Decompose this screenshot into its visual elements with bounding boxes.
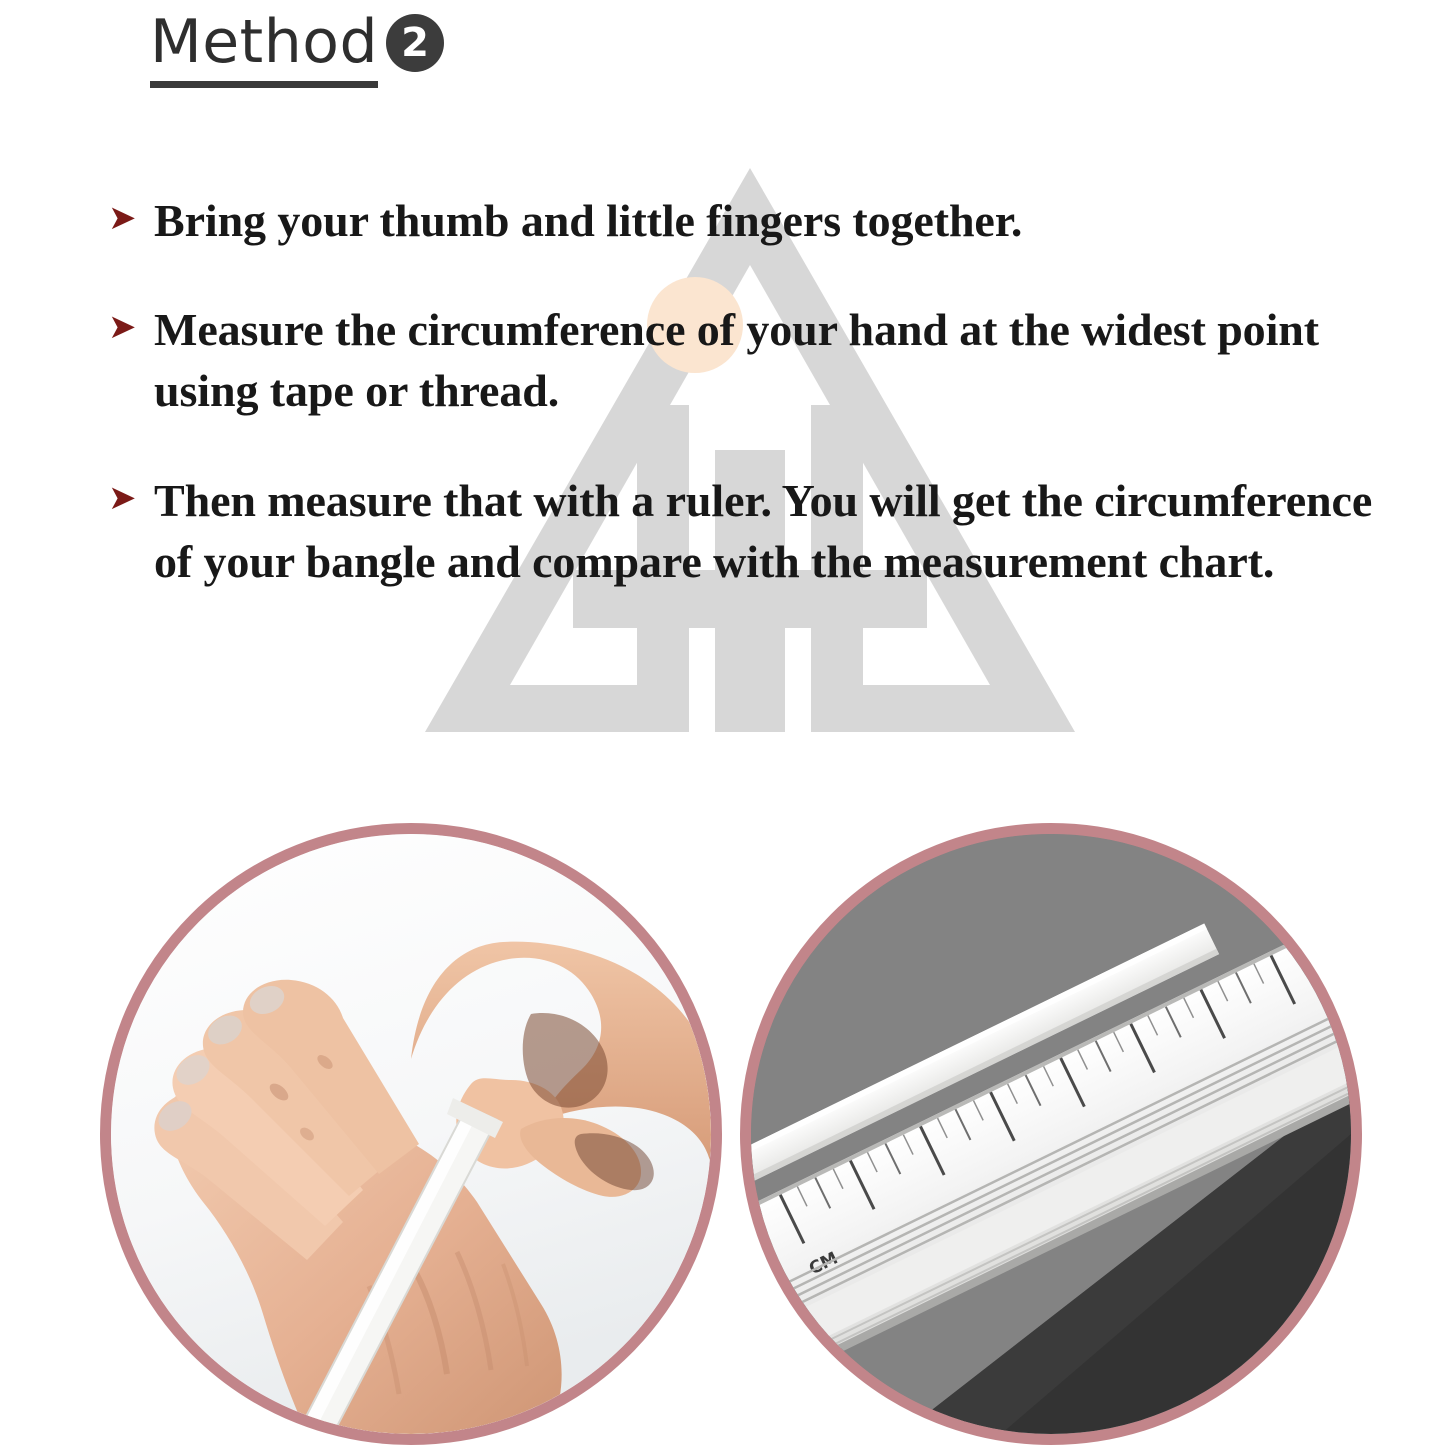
arrow-bullet-icon: ➤	[108, 470, 154, 516]
hand-measuring-illustration	[111, 834, 711, 1434]
page-title: Method	[150, 12, 378, 88]
instruction-list: ➤ Bring your thumb and little fingers to…	[108, 190, 1378, 640]
list-item: ➤ Then measure that with a ruler. You wi…	[108, 470, 1378, 592]
list-item: ➤ Bring your thumb and little fingers to…	[108, 190, 1378, 251]
header: Method 2	[150, 12, 444, 88]
ruler-illustration: CM	[751, 834, 1351, 1434]
photo-row: CM	[0, 805, 1445, 1445]
photo-ruler-measuring-strip: CM	[740, 823, 1362, 1445]
page-root: Method 2 ➤ Bring your thumb and little f…	[0, 0, 1445, 1445]
instruction-text: Bring your thumb and little fingers toge…	[154, 190, 1378, 251]
list-item: ➤ Measure the circumference of your hand…	[108, 299, 1378, 421]
photo-hand-with-measuring-strip	[100, 823, 722, 1445]
arrow-bullet-icon: ➤	[108, 299, 154, 345]
arrow-bullet-icon: ➤	[108, 190, 154, 236]
step-number-badge: 2	[386, 14, 444, 72]
instruction-text: Measure the circumference of your hand a…	[154, 299, 1378, 421]
instruction-text: Then measure that with a ruler. You will…	[154, 470, 1378, 592]
